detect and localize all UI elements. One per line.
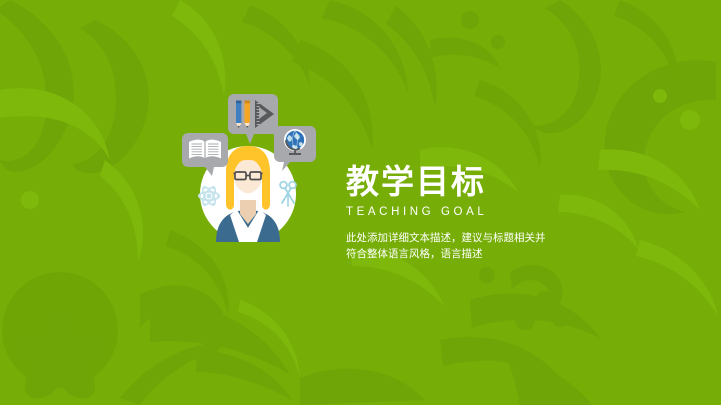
text-block: 教学目标 TEACHING GOAL 此处添加详细文本描述，建议与标题相关并符合… [346, 163, 586, 262]
pencil-orange-icon [245, 101, 250, 129]
page-title: 教学目标 [346, 163, 586, 201]
stationery-bubble [228, 94, 278, 144]
open-book-icon [189, 140, 221, 159]
teaching-illustration [178, 88, 318, 248]
illustration-svg [178, 88, 318, 248]
slide-canvas: 教学目标 TEACHING GOAL 此处添加详细文本描述，建议与标题相关并符合… [0, 0, 721, 405]
page-description: 此处添加详细文本描述，建议与标题相关并符合整体语言风格，语言描述 [346, 230, 554, 262]
pencil-blue-icon [236, 101, 241, 129]
page-subtitle: TEACHING GOAL [346, 205, 586, 219]
